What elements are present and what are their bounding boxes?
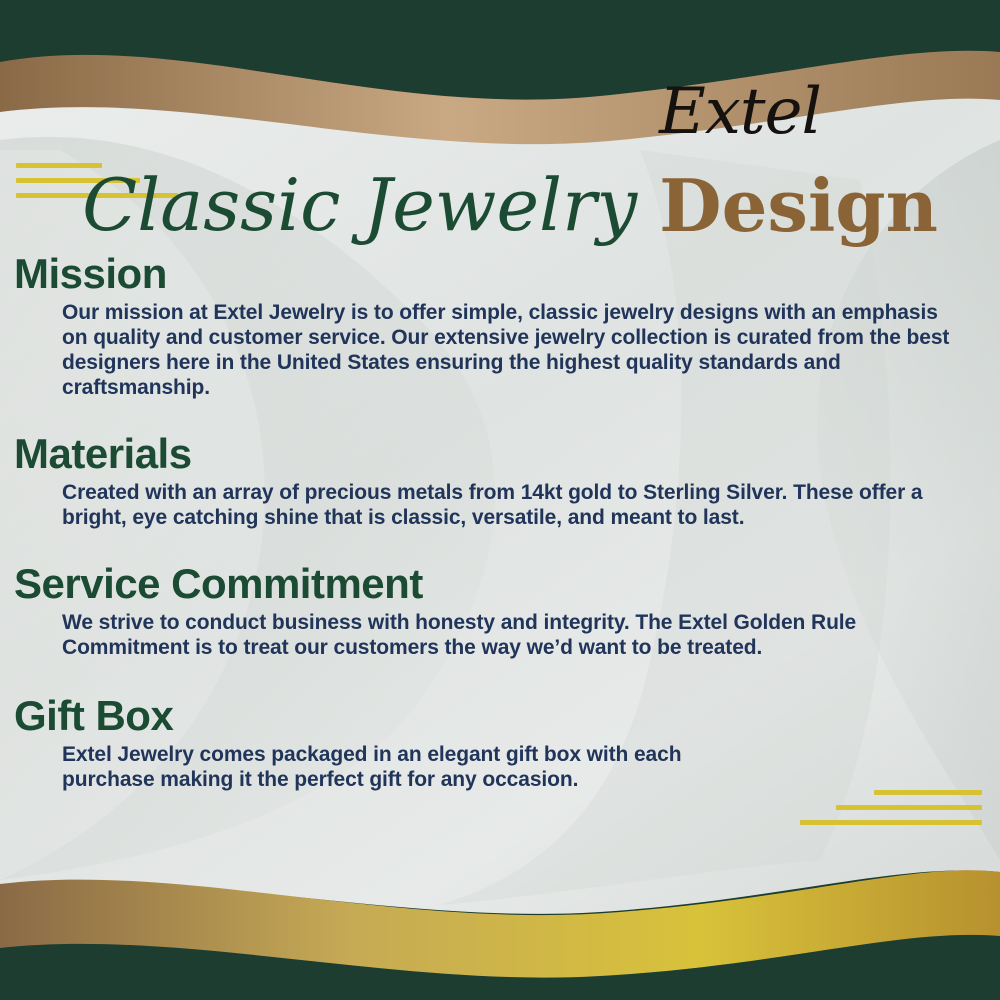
section-heading-mission: Mission (14, 250, 1000, 298)
section-body-mission: Our mission at Extel Jewelry is to offer… (62, 300, 966, 400)
page-title: Classic Jewelry Design (0, 150, 1000, 260)
poster-canvas: Extel Classic Jewelry Design Mission Our… (0, 0, 1000, 1000)
section-body-service-commitment: We strive to conduct business with hones… (62, 610, 966, 660)
section-body-materials: Created with an array of precious metals… (62, 480, 966, 530)
section-heading-materials: Materials (14, 430, 1000, 478)
section-body-gift-box: Extel Jewelry comes packaged in an elega… (62, 742, 750, 792)
brand-logo: Extel (600, 72, 880, 152)
section-service-commitment: Service Commitment We strive to conduct … (0, 560, 1000, 660)
section-heading-service-commitment: Service Commitment (14, 560, 1000, 608)
title-main: Classic Jewelry (82, 163, 637, 247)
section-materials: Materials Created with an array of preci… (0, 430, 1000, 530)
section-mission: Mission Our mission at Extel Jewelry is … (0, 250, 1000, 400)
decorative-lines-bottom-right (800, 790, 982, 835)
content-sections: Mission Our mission at Extel Jewelry is … (0, 250, 1000, 796)
section-heading-gift-box: Gift Box (14, 692, 1000, 740)
title-accent: Design (659, 163, 938, 248)
section-gift-box: Gift Box Extel Jewelry comes packaged in… (0, 692, 1000, 792)
